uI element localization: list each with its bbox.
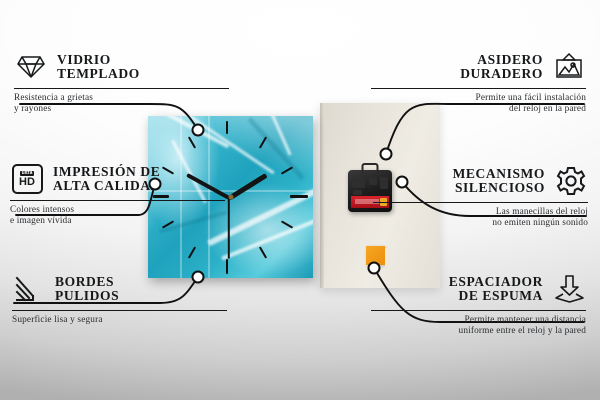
feature-asidero-duradero: ASIDERO DURADERO Permite una fácil insta… xyxy=(371,50,586,116)
clock-second-hand xyxy=(228,197,230,259)
feature-desc-line1: Las manecillas del reloj xyxy=(373,207,588,218)
feature-espaciador-de-espuma: ESPACIADOR DE ESPUMA Permite mantener un… xyxy=(371,272,586,338)
ultra-hd-icon: ultra HD xyxy=(10,162,44,196)
framed-picture-hanger-icon xyxy=(552,50,586,84)
connector-dot-impresion xyxy=(149,178,162,191)
feature-desc-line1: Permite mantener una distancia xyxy=(371,315,586,326)
feature-desc-line1: Resistencia a grietas xyxy=(14,93,229,104)
polished-edges-icon xyxy=(12,272,46,306)
connector-dot-asidero xyxy=(380,148,393,161)
feature-title-line1: ASIDERO xyxy=(460,53,543,68)
infographic-canvas: VIDRIO TEMPLADO Resistencia a grietas y … xyxy=(0,0,600,400)
feature-title-line2: DE ESPUMA xyxy=(449,289,543,304)
feature-desc-line2: y rayones xyxy=(14,104,229,115)
ultra-hd-icon-bottom-label: HD xyxy=(19,177,35,188)
feature-desc-line2: e imagen vívida xyxy=(10,216,225,227)
connector-dot-vidrio-templado xyxy=(192,124,205,137)
feature-divider xyxy=(373,202,588,203)
connector-dot-mecanismo xyxy=(396,176,409,189)
feature-vidrio-templado: VIDRIO TEMPLADO Resistencia a grietas y … xyxy=(14,50,229,116)
feature-mecanismo-silencioso: MECANISMO SILENCIOSO Las manecillas del … xyxy=(373,164,588,230)
clock-hour-hand xyxy=(228,173,268,201)
feature-title-line1: IMPRESIÓN DE xyxy=(53,165,161,180)
feature-divider xyxy=(12,310,227,311)
feature-desc-line1: Superficie lisa y segura xyxy=(12,315,227,326)
clock-center-pin xyxy=(228,195,233,200)
feature-desc-line1: Colores intensos xyxy=(10,205,225,216)
feature-divider xyxy=(371,310,586,311)
feature-desc-line2: no emiten ningún sonido xyxy=(373,218,588,229)
feature-title-line1: VIDRIO xyxy=(57,53,140,68)
arrow-down-pad-icon xyxy=(552,272,586,306)
feature-title-line2: TEMPLADO xyxy=(57,67,140,82)
feature-title-line2: SILENCIOSO xyxy=(453,181,545,196)
feature-title-line2: ALTA CALIDAD xyxy=(53,179,161,194)
gear-icon xyxy=(554,164,588,198)
wall-panel-edge xyxy=(320,103,324,288)
feature-divider xyxy=(371,88,586,89)
feature-title-line1: MECANISMO xyxy=(453,167,545,182)
feature-desc-line2: del reloj en la pared xyxy=(371,104,586,115)
diamond-icon xyxy=(14,50,48,84)
ultra-hd-icon-top-label: ultra xyxy=(20,171,35,176)
feature-desc-line2: uniforme entre el reloj y la pared xyxy=(371,326,586,337)
feature-title-line1: ESPACIADOR xyxy=(449,275,543,290)
connector-dot-espaciador xyxy=(368,262,381,275)
feature-title-line1: BORDES xyxy=(55,275,119,290)
feature-divider xyxy=(14,88,229,89)
connector-dot-bordes xyxy=(192,271,205,284)
feature-impresion-alta-calidad: ultra HD IMPRESIÓN DE ALTA CALIDAD Color… xyxy=(10,162,225,228)
feature-title-line2: DURADERO xyxy=(460,67,543,82)
feature-title-line2: PULIDOS xyxy=(55,289,119,304)
feature-divider xyxy=(10,200,225,201)
feature-desc-line1: Permite una fácil instalación xyxy=(371,93,586,104)
